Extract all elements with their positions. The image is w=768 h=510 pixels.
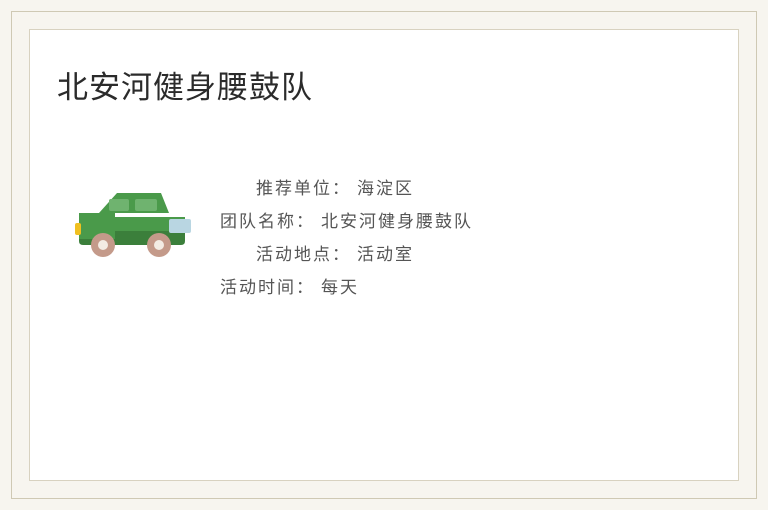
document-page: 北安河健身腰鼓队 — [0, 0, 768, 510]
info-label: 活动地点： — [256, 240, 351, 265]
info-value: 活动室 — [357, 240, 414, 265]
info-label: 推荐单位： — [256, 174, 351, 199]
info-label: 团队名称： — [220, 207, 315, 232]
page-title: 北安河健身腰鼓队 — [57, 68, 313, 108]
info-value: 每天 — [321, 273, 359, 298]
green-pickup-truck-icon — [65, 175, 215, 265]
info-label: 活动时间： — [220, 273, 315, 298]
info-list: 推荐单位： 海淀区 团队名称： 北安河健身腰鼓队 活动地点： 活动室 活动时间：… — [210, 170, 710, 302]
content-card: 北安河健身腰鼓队 — [29, 29, 739, 481]
info-row: 推荐单位： 海淀区 — [210, 170, 710, 203]
info-row: 活动时间： 每天 — [210, 269, 710, 302]
info-row: 活动地点： 活动室 — [210, 236, 710, 269]
info-row: 团队名称： 北安河健身腰鼓队 — [210, 203, 710, 236]
info-value: 海淀区 — [357, 174, 414, 199]
info-value: 北安河健身腰鼓队 — [321, 207, 473, 232]
